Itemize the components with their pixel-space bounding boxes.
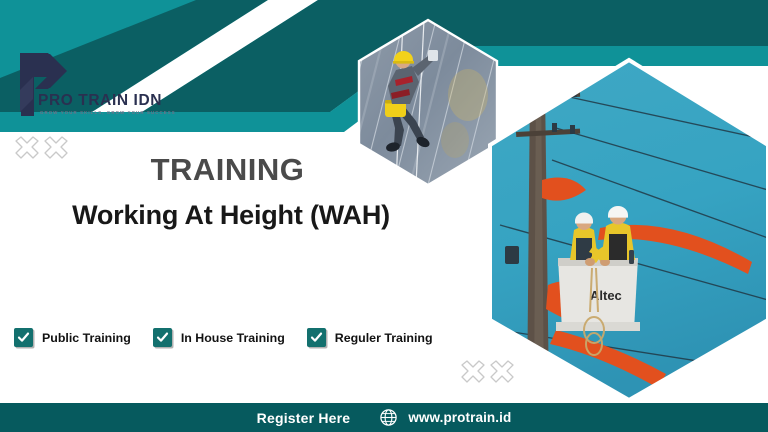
svg-text:Altec: Altec [590, 288, 622, 303]
checkbox-checked-icon[interactable] [14, 328, 33, 347]
x-cross-outline-icon [458, 360, 524, 392]
option-in-house-training[interactable]: In House Training [153, 328, 285, 347]
option-label: Public Training [42, 331, 131, 345]
globe-icon [380, 409, 397, 426]
brand-tagline: GROW YOUR SKILLS, GROW YOUR SUCCESS [40, 110, 176, 115]
option-reguler-training[interactable]: Reguler Training [307, 328, 433, 347]
page-title: Working At Height (WAH) [0, 200, 462, 231]
brand-logo: PRO TRAIN IDN GROW YOUR SKILLS, GROW YOU… [14, 50, 189, 128]
option-public-training[interactable]: Public Training [14, 328, 131, 347]
register-here-cta[interactable]: Register Here [257, 410, 351, 426]
option-label: In House Training [181, 331, 285, 345]
checkbox-checked-icon[interactable] [307, 328, 326, 347]
checkbox-checked-icon[interactable] [153, 328, 172, 347]
eyebrow-heading: TRAINING [0, 152, 455, 188]
brand-name: PRO TRAIN IDN [38, 92, 162, 110]
training-options: Public Training In House Training Regule… [14, 328, 455, 347]
poster-canvas: Altec [0, 0, 768, 432]
hex-right-border [490, 60, 768, 400]
footer-bar: Register Here www.protrain.id [0, 403, 768, 432]
website-url[interactable]: www.protrain.id [408, 410, 511, 425]
bucket-truck-linemen-photo: Altec [490, 60, 768, 400]
option-label: Reguler Training [335, 331, 433, 345]
